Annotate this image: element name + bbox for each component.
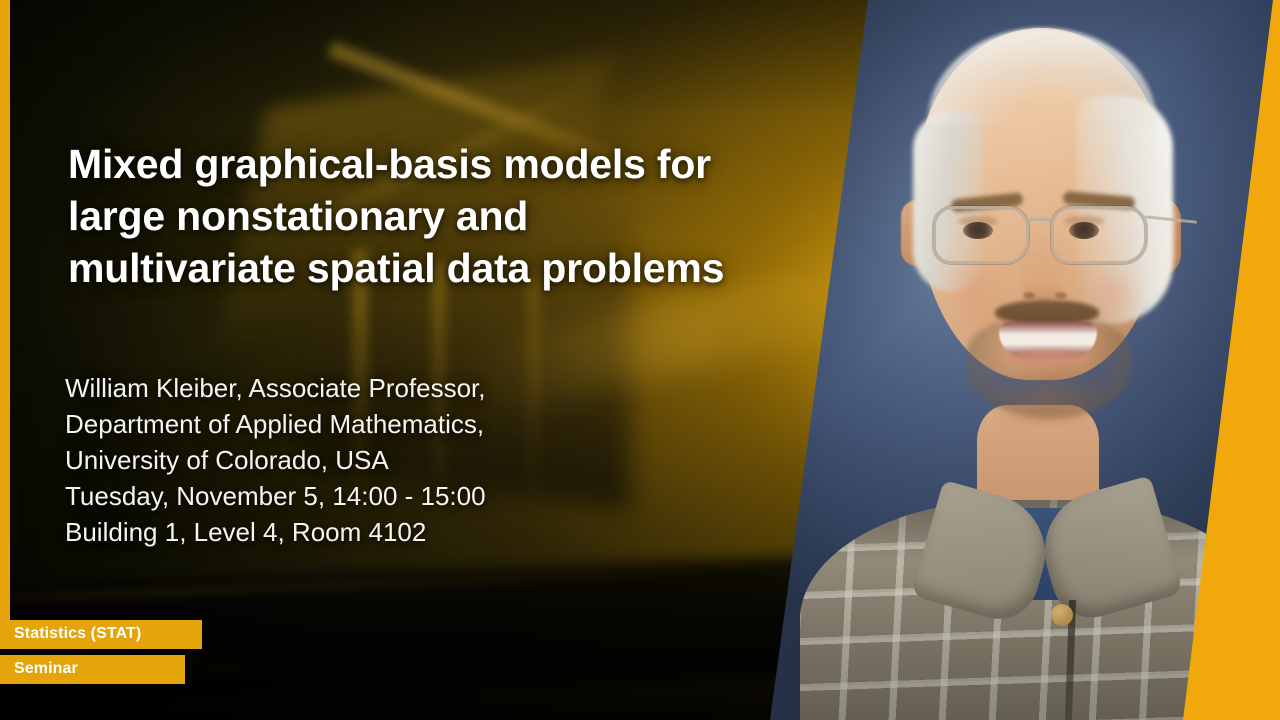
portrait-nostril-right <box>1055 292 1067 299</box>
detail-line-department: Department of Applied Mathematics, <box>65 406 705 442</box>
glasses-lens-right <box>1051 206 1147 264</box>
detail-line-institution: University of Colorado, USA <box>65 442 705 478</box>
seminar-title: Mixed graphical-basis models for large n… <box>68 138 738 294</box>
portrait-hair-top <box>928 28 1156 124</box>
badge-group: Statistics (STAT) Seminar <box>0 620 202 690</box>
detail-line-speaker: William Kleiber, Associate Professor, <box>65 370 705 406</box>
glasses-lens-left <box>933 206 1029 264</box>
status-badge-type: Seminar <box>0 655 185 684</box>
portrait-chin-shadow <box>977 372 1121 422</box>
detail-line-location: Building 1, Level 4, Room 4102 <box>65 514 705 550</box>
glasses-bridge <box>1029 218 1051 221</box>
text-content: Mixed graphical-basis models for large n… <box>0 0 760 720</box>
portrait-lower-lip <box>1007 350 1089 366</box>
glasses-temple-arm <box>1145 215 1197 223</box>
portrait-mustache <box>995 300 1099 324</box>
portrait-nostril-left <box>1023 292 1035 299</box>
seminar-details: William Kleiber, Associate Professor, De… <box>65 370 705 550</box>
status-badge-category: Statistics (STAT) <box>0 620 202 649</box>
portrait-shirt-button <box>1051 604 1073 626</box>
seminar-announcement-slide: Mixed graphical-basis models for large n… <box>0 0 1280 720</box>
detail-line-datetime: Tuesday, November 5, 14:00 - 15:00 <box>65 478 705 514</box>
